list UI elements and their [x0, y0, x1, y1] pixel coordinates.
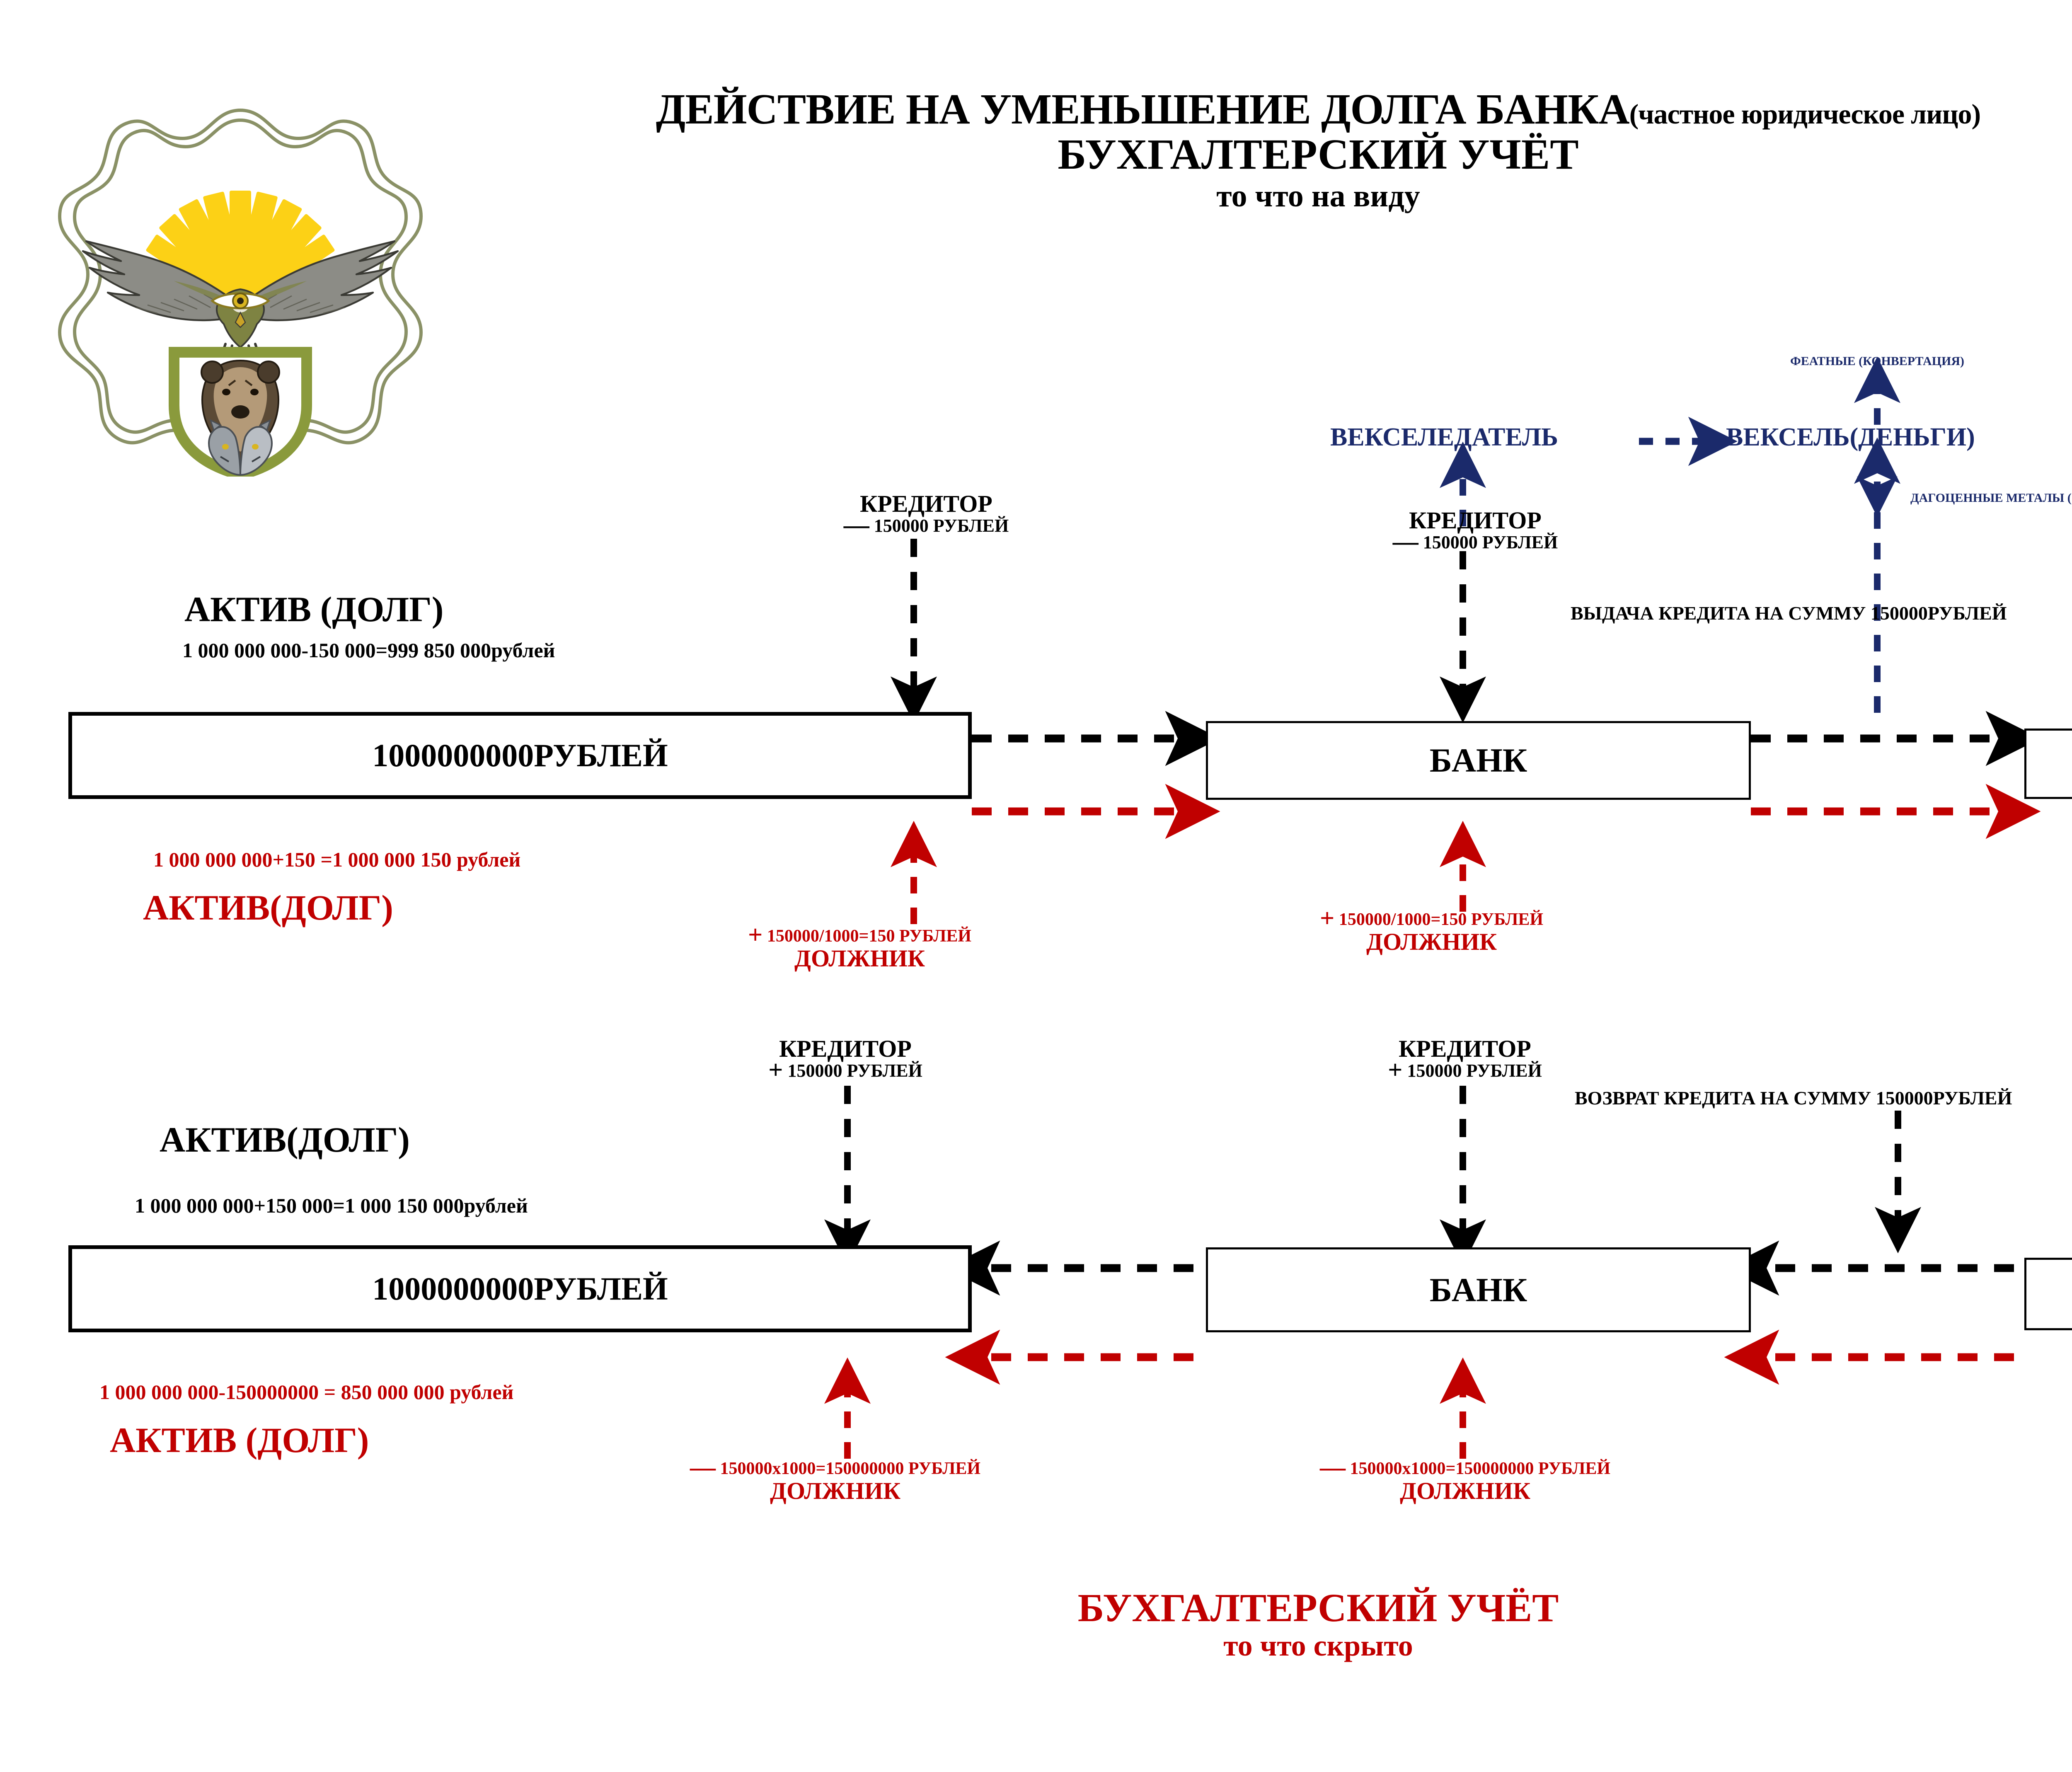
- minus-sign-icon: —: [844, 516, 869, 534]
- plus-sign-icon: +: [1320, 910, 1334, 927]
- row1-note-below-1-role: ДОЛЖНИК: [748, 946, 971, 971]
- veksel-drawer-label: ВЕКСЕЛЕДАТЕЛЬ: [1330, 423, 1558, 452]
- row2-bank-box[interactable]: БАНК: [1206, 1247, 1751, 1332]
- row2-credit-return-note: ВОЗВРАТ КРЕДИТА НА СУММУ 150000РУБЛЕЙ: [1575, 1088, 2012, 1109]
- row2-people-box[interactable]: Мужчина и Женщина: [2024, 1258, 2072, 1330]
- row1-people-box[interactable]: Мужчина и Женщина: [2024, 729, 2072, 799]
- row1-note-above-1: КРЕДИТОР — 150000 РУБЛЕЙ: [818, 491, 1034, 536]
- page-title: ДЕЙСТВИЕ НА УМЕНЬШЕНИЕ ДОЛГА БАНКА(частн…: [0, 87, 2072, 214]
- plus-sign-icon: +: [768, 1061, 783, 1079]
- minus-sign-icon: —: [690, 1459, 716, 1477]
- row1-note-below-2: + 150000/1000=150 РУБЛЕЙ ДОЛЖНИК: [1320, 910, 1543, 955]
- row2-note-below-2-value: — 150000x1000=150000000 РУБЛЕЙ: [1320, 1459, 1610, 1478]
- row1-note-above-2-amount: 150000 РУБЛЕЙ: [1423, 532, 1558, 552]
- row1-note-above-2-value: — 150000 РУБЛЕЙ: [1368, 533, 1583, 552]
- row1-note-above-2: КРЕДИТОР — 150000 РУБЛЕЙ: [1368, 508, 1583, 552]
- row2-asset-box-label: 1000000000РУБЛЕЙ: [372, 1270, 668, 1307]
- veksel-money-label: ВЕКСЕЛЬ(ДЕНЬГИ): [1726, 423, 1975, 452]
- bottom-title: БУХГАЛТЕРСКИЙ УЧЁТ то что скрыто: [0, 1587, 2072, 1662]
- row2-note-below-1: — 150000x1000=150000000 РУБЛЕЙ ДОЛЖНИК: [690, 1459, 980, 1504]
- row1-bank-box-label: БАНК: [1430, 741, 1527, 780]
- plus-sign-icon: +: [1388, 1061, 1402, 1079]
- row1-left-asset-formula: 1 000 000 000-150 000=999 850 000рублей: [182, 638, 555, 662]
- row2-note-above-1-value: + 150000 РУБЛЕЙ: [738, 1061, 953, 1081]
- title-subtitle: то что на виду: [0, 179, 2072, 214]
- row2-left-asset-header: АКТИВ(ДОЛГ): [160, 1119, 410, 1160]
- veksel-below-label: ДАГОЦЕННЫЕ МЕТАЛЫ ( ЗОЛОТО ГРАММЫ): [1910, 491, 2072, 505]
- veksel-above-label: ФЕАТНЫЕ (КОНВЕРТАЦИЯ): [1699, 354, 2055, 368]
- row1-asset-box[interactable]: 1000000000РУБЛЕЙ: [68, 712, 972, 799]
- title-line-2: БУХГАЛТЕРСКИЙ УЧЁТ: [0, 132, 2072, 177]
- title-paren-text: (частное юридическое лицо): [1629, 98, 1981, 130]
- row2-left-asset-formula: 1 000 000 000+150 000=1 000 150 000рубле…: [135, 1193, 528, 1218]
- row2-asset-box[interactable]: 1000000000РУБЛЕЙ: [68, 1245, 972, 1332]
- row2-note-below-2: — 150000x1000=150000000 РУБЛЕЙ ДОЛЖНИК: [1320, 1459, 1610, 1504]
- row1-left-asset-header: АКТИВ (ДОЛГ): [184, 588, 443, 630]
- row1-note-below-2-amount: 150000/1000=150 РУБЛЕЙ: [1339, 910, 1543, 929]
- row2-left-red-formula: 1 000 000 000-150000000 = 850 000 000 ру…: [99, 1380, 513, 1404]
- row2-note-above-2-amount: 150000 РУБЛЕЙ: [1407, 1060, 1542, 1081]
- row2-note-above-1: КРЕДИТОР + 150000 РУБЛЕЙ: [738, 1036, 953, 1081]
- row1-note-below-2-value: + 150000/1000=150 РУБЛЕЙ: [1320, 910, 1543, 929]
- bottom-title-line-2: то что скрыто: [0, 1629, 2072, 1663]
- title-line-1: ДЕЙСТВИЕ НА УМЕНЬШЕНИЕ ДОЛГА БАНКА(частн…: [0, 87, 2072, 132]
- row1-asset-box-label: 1000000000РУБЛЕЙ: [372, 737, 668, 774]
- row1-bank-box[interactable]: БАНК: [1206, 721, 1751, 800]
- row1-note-below-1-amount: 150000/1000=150 РУБЛЕЙ: [767, 927, 971, 946]
- row1-left-red-header: АКТИВ(ДОЛГ): [143, 887, 393, 928]
- row2-note-below-1-role: ДОЛЖНИК: [690, 1478, 980, 1503]
- row2-note-below-1-value: — 150000x1000=150000000 РУБЛЕЙ: [690, 1459, 980, 1478]
- row2-left-red-header: АКТИВ (ДОЛГ): [110, 1419, 369, 1461]
- row1-note-above-1-amount: 150000 РУБЛЕЙ: [874, 516, 1009, 536]
- row2-note-below-1-amount: 150000x1000=150000000 РУБЛЕЙ: [720, 1459, 981, 1478]
- row2-note-above-2-value: + 150000 РУБЛЕЙ: [1357, 1061, 1573, 1081]
- row1-left-red-formula: 1 000 000 000+150 =1 000 000 150 рублей: [153, 847, 520, 871]
- bottom-title-line-1: БУХГАЛТЕРСКИЙ УЧЁТ: [0, 1587, 2072, 1629]
- row1-note-below-2-role: ДОЛЖНИК: [1320, 929, 1543, 954]
- row1-note-below-1: + 150000/1000=150 РУБЛЕЙ ДОЛЖНИК: [748, 926, 971, 971]
- minus-sign-icon: —: [1393, 533, 1418, 551]
- row2-note-above-1-amount: 150000 РУБЛЕЙ: [787, 1060, 922, 1081]
- row1-note-below-1-value: + 150000/1000=150 РУБЛЕЙ: [748, 926, 971, 946]
- plus-sign-icon: +: [748, 926, 762, 944]
- minus-sign-icon: —: [1320, 1459, 1346, 1477]
- row1-credit-issue-note: ВЫДАЧА КРЕДИТА НА СУММУ 150000РУБЛЕЙ: [1571, 603, 2007, 624]
- row2-bank-box-label: БАНК: [1430, 1271, 1527, 1310]
- row1-note-above-1-value: — 150000 РУБЛЕЙ: [818, 516, 1034, 536]
- row2-note-above-2: КРЕДИТОР + 150000 РУБЛЕЙ: [1357, 1036, 1573, 1081]
- title-main-text: ДЕЙСТВИЕ НА УМЕНЬШЕНИЕ ДОЛГА БАНКА: [656, 85, 1629, 133]
- row2-note-below-2-role: ДОЛЖНИК: [1320, 1478, 1610, 1503]
- row2-note-below-2-amount: 150000x1000=150000000 РУБЛЕЙ: [1350, 1459, 1611, 1478]
